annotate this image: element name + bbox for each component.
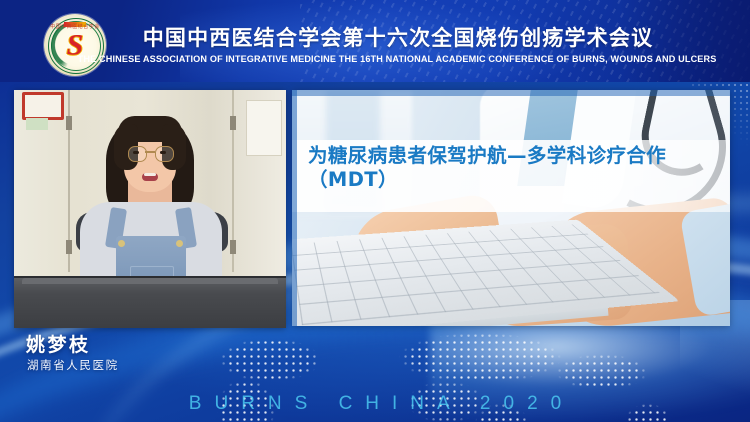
presenter-glasses-bridge <box>145 151 155 153</box>
conference-header: 中国中西医结合学会 S 中国中西医结合学会第十六次全国烧伤创疡学术会议 THE … <box>0 0 750 82</box>
presenter-eye-left <box>133 151 139 154</box>
video-wall-sign <box>22 92 64 120</box>
speaker-video-feed[interactable] <box>14 90 286 328</box>
presenter-glasses-right-lens <box>155 146 174 162</box>
video-hinge <box>66 116 72 130</box>
video-hinge <box>230 116 236 130</box>
video-hinge <box>66 240 72 254</box>
footer-brand-text: BURNS CHINA 2020 <box>176 393 574 415</box>
presenter-overall-button-right <box>176 240 183 247</box>
presenter-glasses-left-lens <box>128 146 147 162</box>
video-monitor-edge <box>22 278 278 284</box>
presentation-slide[interactable]: 为糖尿病患者保驾护航—多学科诊疗合作（MDT） 湖南省人民医院 姚梦枝 <box>292 90 730 326</box>
video-hinge <box>230 240 236 254</box>
presenter-eye-right <box>160 151 166 154</box>
presenter-overall-button-left <box>118 240 125 247</box>
video-desk <box>14 276 286 328</box>
conference-title-en: THE CHINESE ASSOCIATION OF INTEGRATIVE M… <box>15 54 735 65</box>
presenter-teeth <box>144 173 156 176</box>
video-wall-panel <box>246 100 282 156</box>
speaker-organization: 湖南省人民医院 <box>27 357 119 373</box>
broadcast-stage: 中国中西医结合学会 S 中国中西医结合学会第十六次全国烧伤创疡学术会议 THE … <box>0 0 750 422</box>
slide-title: 为糖尿病患者保驾护航—多学科诊疗合作（MDT） <box>308 144 718 192</box>
video-wall-placard <box>26 118 48 130</box>
footer-banner: BURNS CHINA 2020 <box>0 386 750 422</box>
slide-top-accent-bar <box>292 90 730 96</box>
slide-left-accent-bar <box>292 90 297 326</box>
speaker-name: 姚梦枝 <box>26 330 91 357</box>
conference-title-cn: 中国中西医结合学会第十六次全国烧伤创疡学术会议 <box>0 22 750 52</box>
